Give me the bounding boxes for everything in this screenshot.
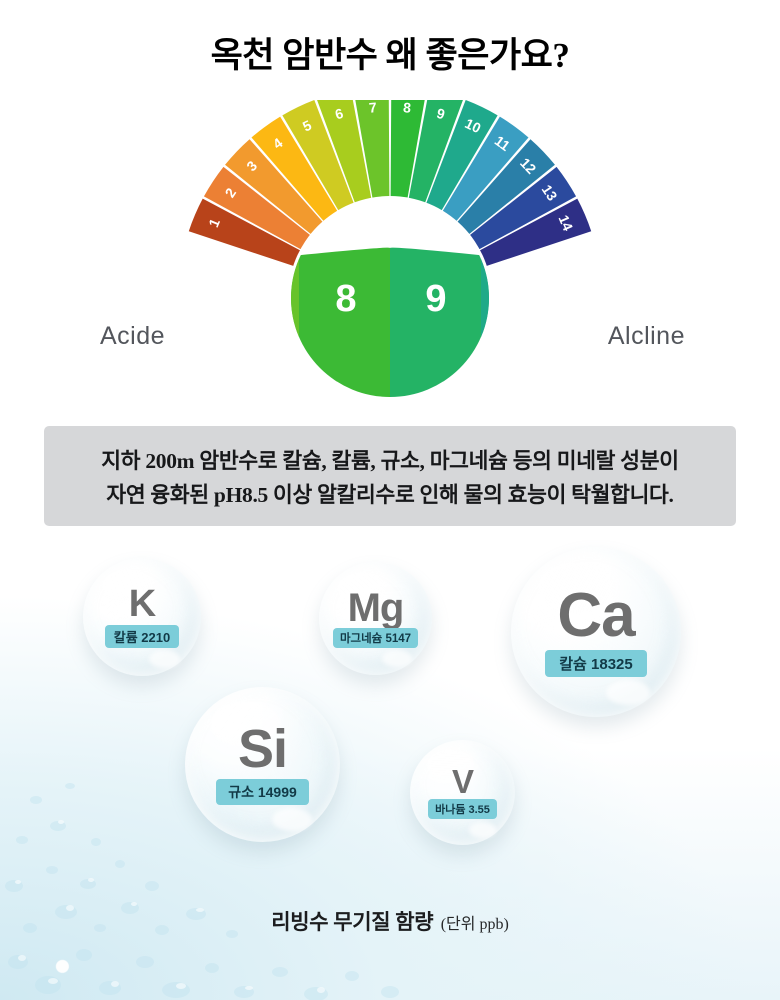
- mineral-symbol: Mg: [348, 589, 404, 627]
- mineral-symbol: Si: [238, 724, 287, 775]
- ph-gauge: 1234567891011121314 8 9 Acide Alcline: [95, 100, 685, 420]
- mineral-symbol: K: [129, 586, 155, 622]
- page-title: 옥천 암반수 왜 좋은가요?: [0, 27, 780, 78]
- chart-caption: 리빙수 무기질 함량 (단위 ppb): [0, 906, 780, 936]
- mineral-value-badge: 칼슘 18325: [545, 650, 646, 677]
- caption-main: 리빙수 무기질 함량: [271, 910, 433, 934]
- ph-gauge-svg: 1234567891011121314 8 9: [95, 100, 685, 420]
- mineral-bubble-mg: Mg 마그네슘 5147: [319, 562, 432, 675]
- mineral-bubble-chart: K 칼륨 2210 Mg 마그네슘 5147 Ca 칼슘 18325 Si 규소…: [0, 540, 780, 920]
- mineral-bubble-v: V 바나듐 3.55: [410, 740, 515, 845]
- mineral-bubble-si: Si 규소 14999: [185, 687, 340, 842]
- lens-value-8: 8: [335, 278, 356, 320]
- mineral-value-badge: 마그네슘 5147: [333, 628, 418, 648]
- mineral-bubble-ca: Ca 칼슘 18325: [511, 547, 681, 717]
- infographic-page: 옥천 암반수 왜 좋은가요? 1234567891011121314 8 9 A…: [0, 0, 780, 1000]
- description-line-1: 지하 200m 암반수로 칼슘, 칼륨, 규소, 마그네슘 등의 미네랄 성분이: [101, 444, 678, 475]
- description-line-2: 자연 융화된 pH8.5 이상 알칼리수로 인해 물의 효능이 탁월합니다.: [106, 478, 673, 509]
- mineral-value-badge: 바나듐 3.55: [428, 799, 497, 819]
- mineral-value-badge: 규소 14999: [216, 779, 309, 805]
- gauge-label-acidic: Acide: [100, 322, 165, 351]
- mineral-symbol: V: [452, 766, 473, 797]
- magnifier-content: 8 9: [291, 248, 489, 420]
- lens-value-9: 9: [425, 278, 446, 320]
- mineral-symbol: Ca: [557, 587, 634, 646]
- mineral-value-badge: 칼륨 2210: [105, 625, 179, 648]
- mineral-bubble-k: K 칼륨 2210: [83, 558, 201, 676]
- ph-tick-7: 7: [368, 100, 377, 116]
- caption-unit: (단위 ppb): [441, 916, 509, 933]
- description-box: 지하 200m 암반수로 칼슘, 칼륨, 규소, 마그네슘 등의 미네랄 성분이…: [44, 426, 736, 526]
- gauge-label-alkaline: Alcline: [608, 322, 685, 351]
